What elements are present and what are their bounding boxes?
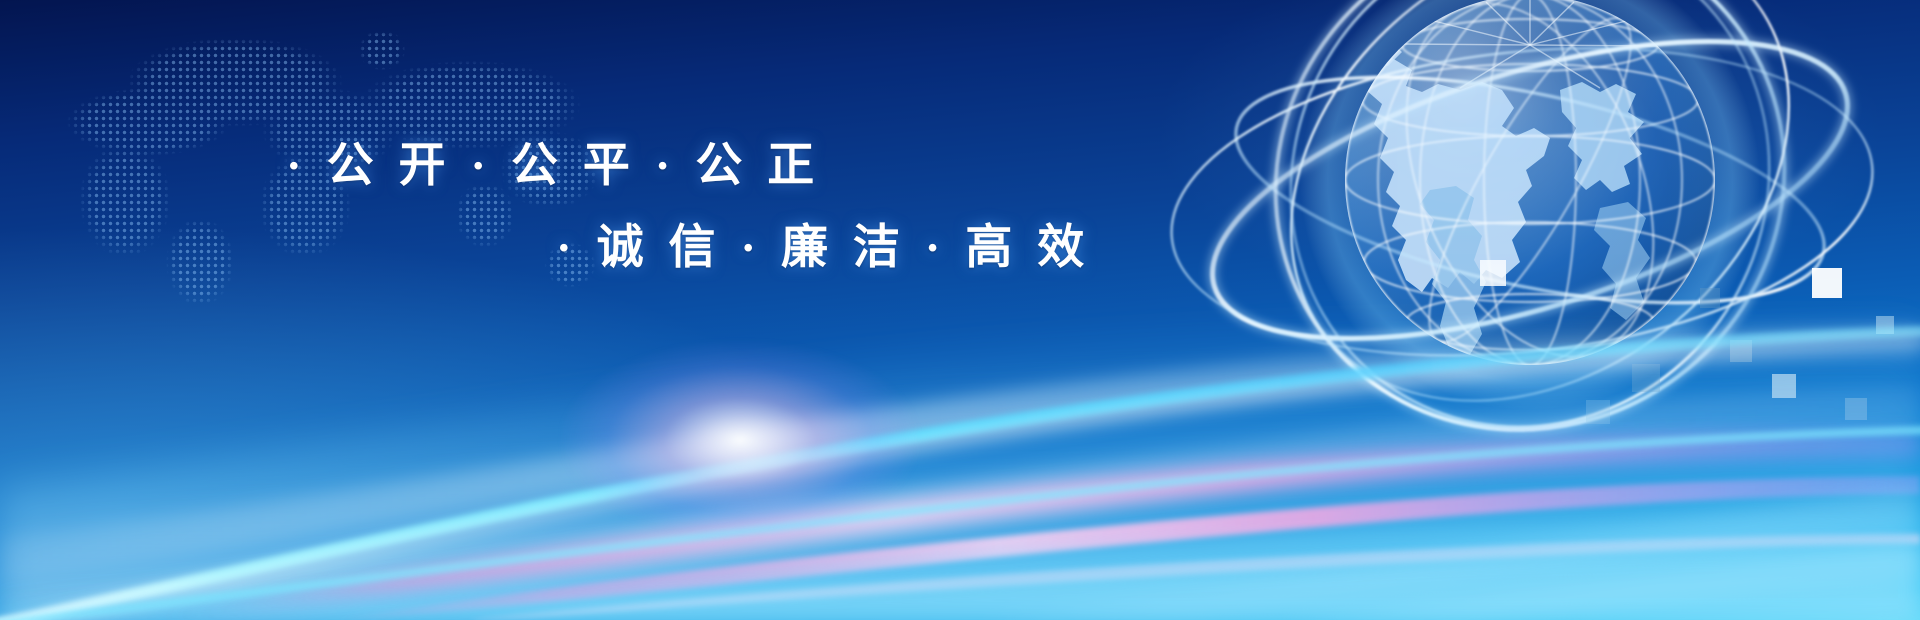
light-burst-icon xyxy=(560,340,920,540)
slogan-line-1: · 公 开 · 公 平 · 公 正 xyxy=(286,140,821,192)
decorative-banner: · 公 开 · 公 平 · 公 正 · 诚 信 · 廉 洁 · 高 效 xyxy=(0,0,1920,620)
slogan-line-2: · 诚 信 · 廉 洁 · 高 效 xyxy=(556,222,1091,274)
light-streak-wave-icon xyxy=(0,290,1920,620)
